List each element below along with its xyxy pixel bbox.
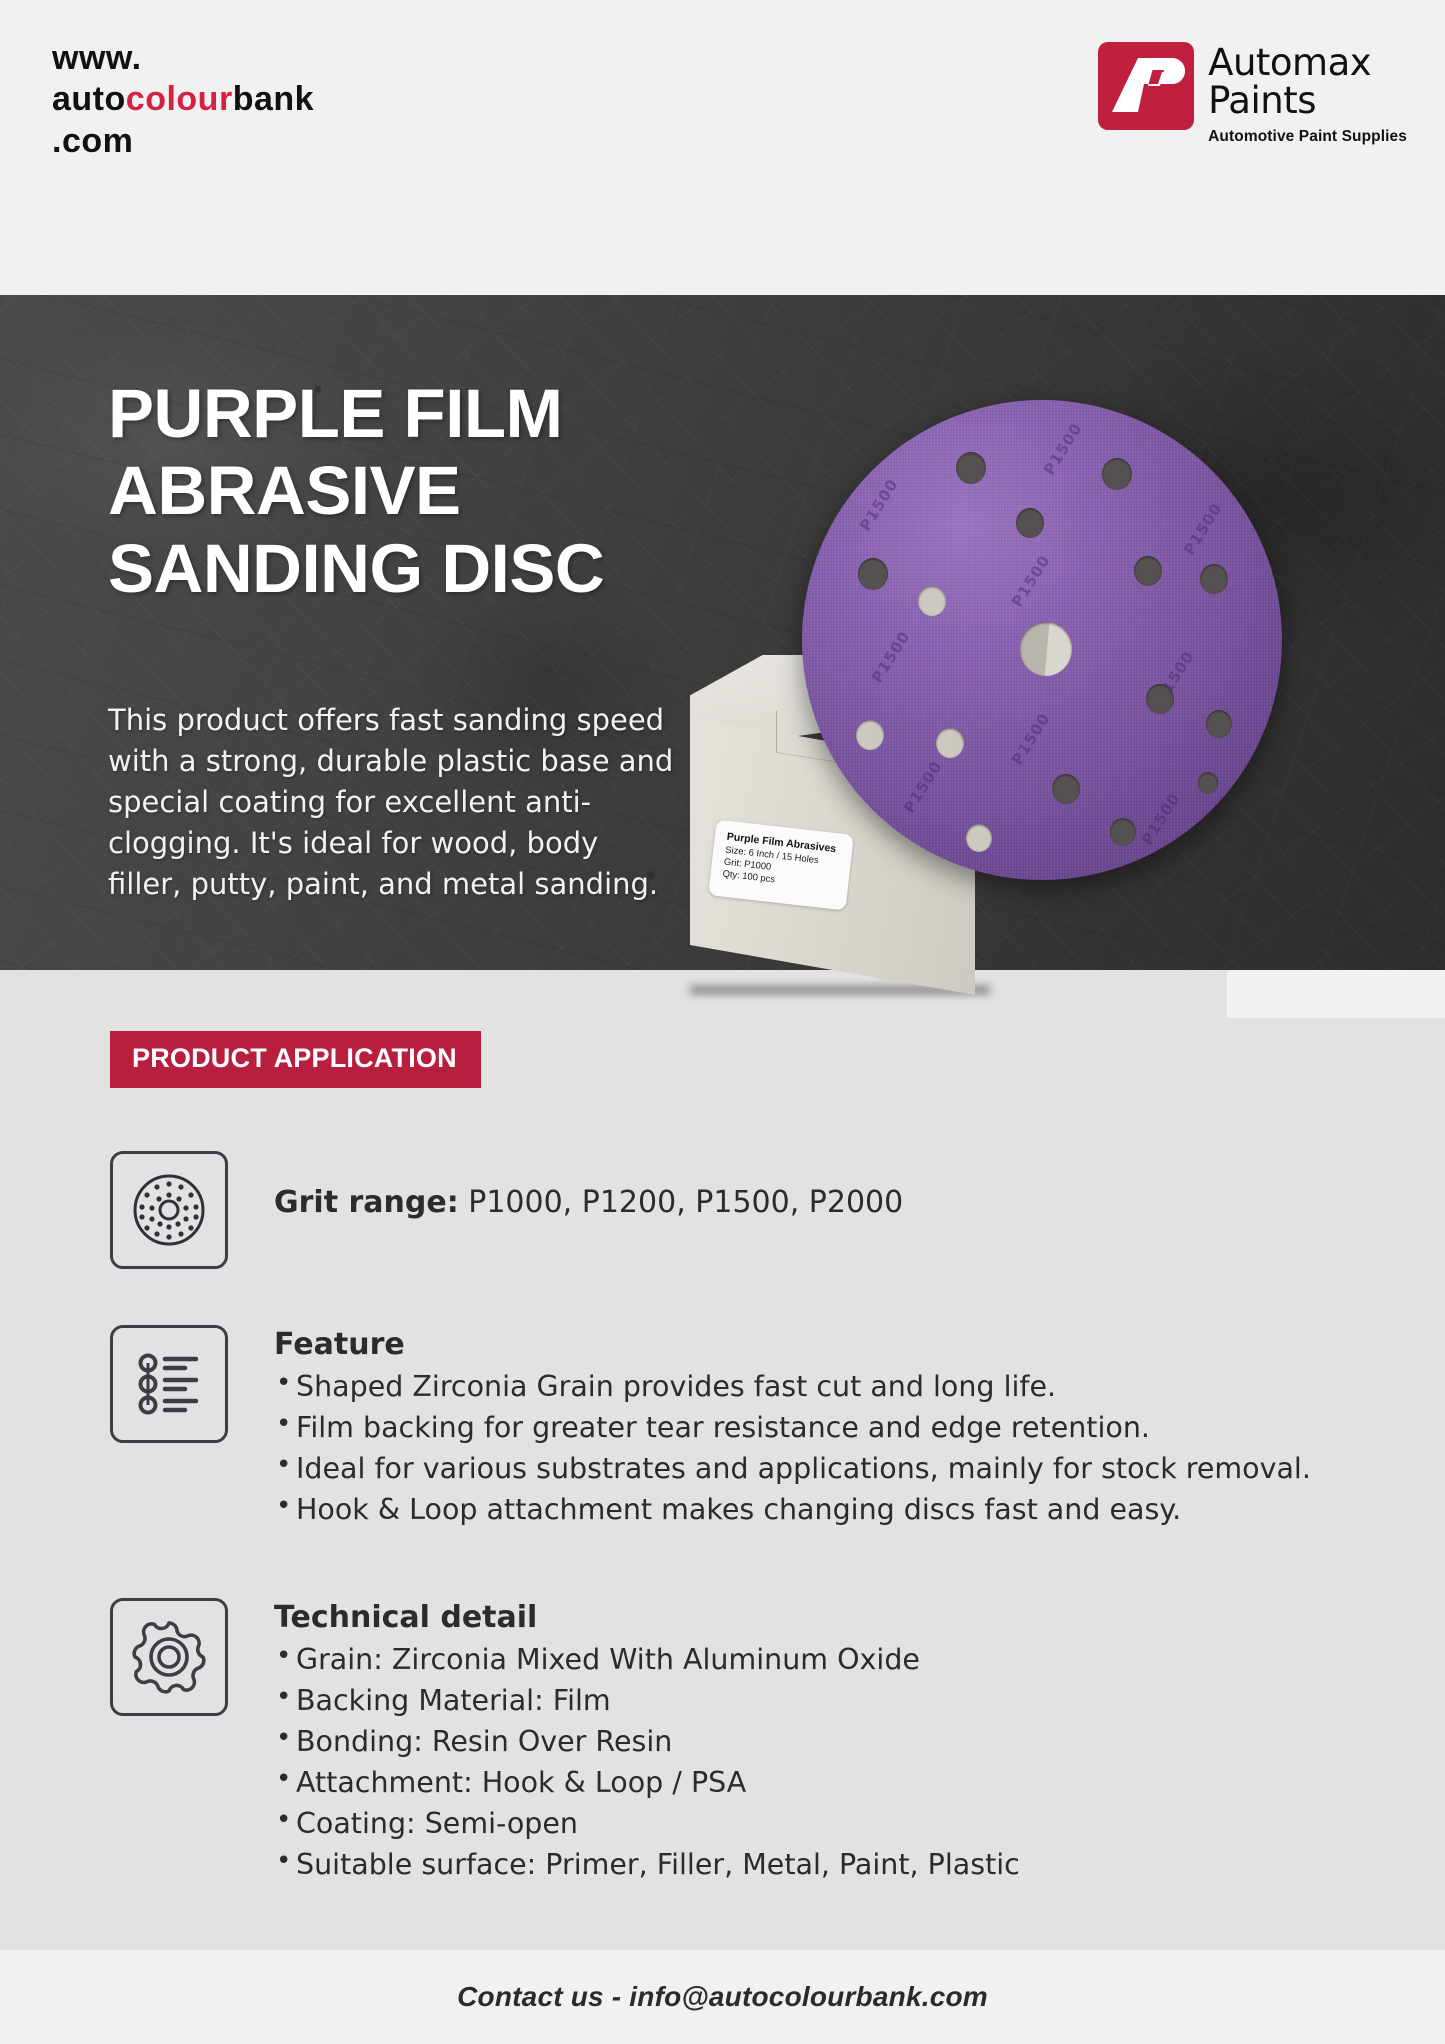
contact-text: Contact us - info@autocolourbank.com [457, 1981, 988, 2013]
product-title: PURPLE FILM ABRASIVE SANDING DISC [108, 375, 604, 607]
list-item: Attachment: Hook & Loop / PSA [274, 1762, 1020, 1803]
product-title-line2: ABRASIVE [108, 452, 604, 529]
disc-hole [918, 586, 946, 616]
disc-hole [1052, 774, 1080, 804]
site-url-colour: colour [126, 80, 233, 118]
footer-bar: Contact us - info@autocolourbank.com [0, 1950, 1445, 2044]
list-item: Hook & Loop attachment makes changing di… [274, 1489, 1311, 1530]
sanding-disc-icon [110, 1151, 228, 1269]
product-photo: Purple Film Abrasives Size: 6 Inch / 15 … [690, 400, 1445, 1000]
disc-hole [1110, 818, 1136, 846]
product-title-line1: PURPLE FILM [108, 375, 604, 452]
grit-range-value: P1000, P1200, P1500, P2000 [459, 1185, 904, 1220]
feature-row: Feature Shaped Zirconia Grain provides f… [110, 1325, 1311, 1530]
list-item: Shaped Zirconia Grain provides fast cut … [274, 1366, 1311, 1407]
disc-center-hole [1020, 622, 1072, 676]
grit-range-text: Grit range: P1000, P1200, P1500, P2000 [274, 1153, 903, 1220]
technical-detail-heading: Technical detail [274, 1600, 1020, 1635]
list-item: Film backing for greater tear resistance… [274, 1407, 1311, 1448]
brand-name-line1: Automax [1208, 44, 1407, 82]
list-item: Backing Material: Film [274, 1680, 1020, 1721]
site-url-bank: bank [233, 80, 314, 118]
disc-hole [1206, 710, 1232, 738]
list-item: Suitable surface: Primer, Filler, Metal,… [274, 1844, 1020, 1885]
disc-hole [966, 824, 992, 852]
list-item: Ideal for various substrates and applica… [274, 1448, 1311, 1489]
disc-hole [1200, 564, 1228, 594]
technical-detail-list: Grain: Zirconia Mixed With Aluminum Oxid… [274, 1639, 1020, 1885]
grit-range-row: Grit range: P1000, P1200, P1500, P2000 [110, 1151, 903, 1269]
brand-name-line2: Paints [1208, 82, 1407, 120]
site-url-line1: www. [52, 39, 142, 77]
feature-list: Shaped Zirconia Grain provides fast cut … [274, 1366, 1311, 1530]
product-description: This product offers fast sanding speed w… [108, 700, 676, 904]
bullet-list-icon [110, 1325, 228, 1443]
disc-hole [1102, 458, 1132, 490]
disc-hole [1134, 556, 1162, 586]
disc-hole [858, 558, 888, 590]
purple-sanding-disc: P1500 P1500 P1500 P1500 P1500 P1500 P150… [802, 400, 1282, 880]
product-title-line3: SANDING DISC [108, 530, 604, 607]
datasheet-page: www. autocolourbank .com Automax Paints … [0, 0, 1445, 2044]
site-url: www. autocolourbank .com [52, 38, 314, 162]
disc-hole [1146, 684, 1174, 714]
ap-monogram-icon [1098, 42, 1194, 130]
disc-hole [1016, 508, 1044, 538]
gear-icon [110, 1598, 228, 1716]
grit-range-label: Grit range: [274, 1185, 459, 1220]
disc-hole [856, 720, 884, 750]
brand-tagline: Automotive Paint Supplies [1208, 128, 1407, 146]
disc-hole [1198, 772, 1218, 794]
header-bar: www. autocolourbank .com Automax Paints … [0, 0, 1445, 295]
site-url-line3: .com [52, 122, 133, 160]
list-item: Bonding: Resin Over Resin [274, 1721, 1020, 1762]
section-badge-product-application: PRODUCT APPLICATION [110, 1031, 481, 1088]
technical-detail-row: Technical detail Grain: Zirconia Mixed W… [110, 1598, 1020, 1885]
disc-hole [956, 452, 986, 484]
feature-heading: Feature [274, 1327, 1311, 1362]
site-url-auto: auto [52, 80, 126, 118]
list-item: Grain: Zirconia Mixed With Aluminum Oxid… [274, 1639, 1020, 1680]
disc-hole [936, 728, 964, 758]
automax-paints-logo: Automax Paints Automotive Paint Supplies [1098, 42, 1407, 146]
list-item: Coating: Semi-open [274, 1803, 1020, 1844]
